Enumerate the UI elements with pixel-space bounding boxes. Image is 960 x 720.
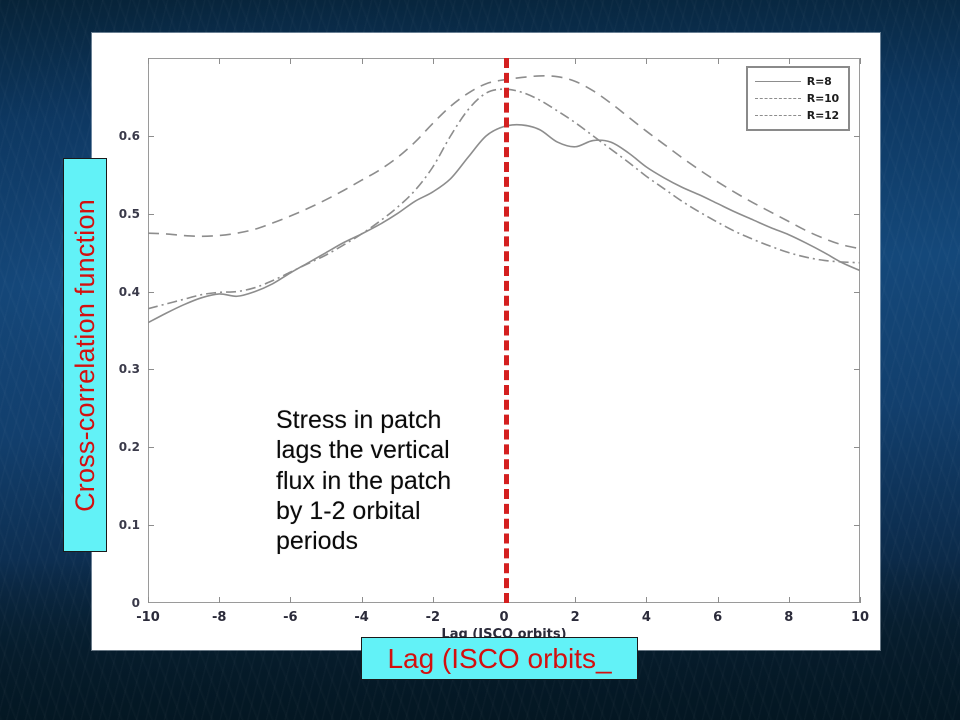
x-tick-label: -8 bbox=[212, 610, 226, 625]
legend-key-solid-icon bbox=[755, 81, 801, 82]
x-tick-label: 8 bbox=[784, 610, 793, 625]
y-tick-label: 0.5 bbox=[119, 207, 140, 221]
x-tick-label: 0 bbox=[499, 610, 508, 625]
x-tick bbox=[860, 597, 861, 603]
legend-label: R=8 bbox=[807, 75, 832, 88]
y-axis-label-callout[interactable]: Cross-correlation function bbox=[63, 158, 107, 552]
y-tick-label: 0.1 bbox=[119, 518, 140, 532]
legend: R=8 R=10 R=12 bbox=[746, 66, 850, 131]
figure-card: -10-8-6-4-20246810 00.10.20.30.40.50.6 L… bbox=[92, 33, 880, 650]
legend-key-dash-icon bbox=[755, 115, 801, 116]
legend-label: R=12 bbox=[807, 109, 839, 122]
x-tick-label: -10 bbox=[136, 610, 160, 625]
legend-key-dashdot-icon bbox=[755, 98, 801, 99]
annotation-line: by 1-2 orbital bbox=[276, 496, 451, 526]
x-tick-label: 2 bbox=[571, 610, 580, 625]
annotation-line: Stress in patch bbox=[276, 405, 451, 435]
legend-item: R=8 bbox=[755, 73, 839, 90]
x-tick-label: -6 bbox=[283, 610, 297, 625]
legend-item: R=12 bbox=[755, 107, 839, 124]
y-tick-label: 0.3 bbox=[119, 362, 140, 376]
x-tick bbox=[860, 58, 861, 64]
x-tick-label: 10 bbox=[851, 610, 869, 625]
x-tick-label: -2 bbox=[426, 610, 440, 625]
y-tick-label: 0.4 bbox=[119, 285, 140, 299]
annotation-line: lags the vertical bbox=[276, 435, 451, 465]
x-tick-label: 4 bbox=[642, 610, 651, 625]
legend-item: R=10 bbox=[755, 90, 839, 107]
slide-canvas: -10-8-6-4-20246810 00.10.20.30.40.50.6 L… bbox=[0, 0, 960, 720]
annotation-line: flux in the patch bbox=[276, 466, 451, 496]
legend-label: R=10 bbox=[807, 92, 839, 105]
y-tick-label: 0.6 bbox=[119, 129, 140, 143]
chart-annotation-text: Stress in patch lags the vertical flux i… bbox=[276, 405, 451, 556]
x-tick-label: -4 bbox=[354, 610, 368, 625]
zero-lag-marker-line bbox=[504, 58, 509, 603]
x-axis-label-callout[interactable]: Lag (ISCO orbits_ bbox=[361, 637, 638, 680]
x-tick-label: 6 bbox=[713, 610, 722, 625]
plot-area: -10-8-6-4-20246810 00.10.20.30.40.50.6 L… bbox=[148, 58, 860, 603]
y-tick-label: 0 bbox=[132, 596, 140, 610]
y-tick-label: 0.2 bbox=[119, 440, 140, 454]
y-axis-label-text: Cross-correlation function bbox=[70, 199, 101, 512]
annotation-line: periods bbox=[276, 526, 451, 556]
